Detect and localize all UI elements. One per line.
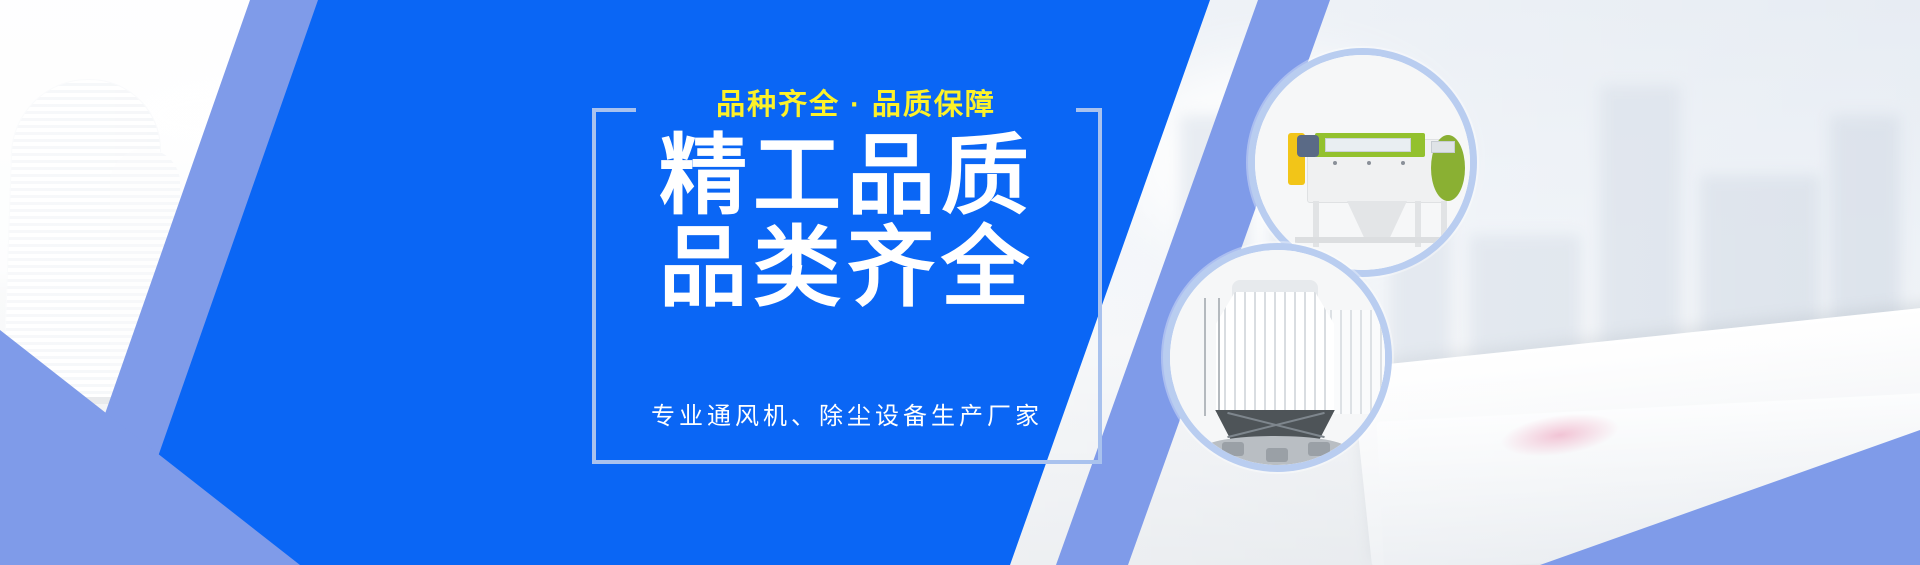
machine-motor <box>1297 135 1319 157</box>
cooling-tower-foot <box>1308 442 1330 456</box>
cooling-tower-shell <box>1216 292 1334 414</box>
headline-block: 精工品质 品类齐全 <box>592 130 1102 313</box>
machine-hopper <box>1347 201 1407 237</box>
product-photo-cooling-tower <box>1170 250 1385 465</box>
machine-bolt <box>1367 161 1371 165</box>
machine-base-rail <box>1295 237 1455 243</box>
cooling-tower-foot <box>1222 442 1244 456</box>
kicker-text: 品种齐全 · 品质保障 <box>636 82 1076 122</box>
machine-window <box>1325 138 1411 152</box>
machine-control-panel <box>1431 141 1455 153</box>
subtitle-text: 专业通风机、除尘设备生产厂家 <box>592 396 1102 431</box>
machine-bolt <box>1401 161 1405 165</box>
promo-banner: 品种齐全 · 品质保障 精工品质 品类齐全 专业通风机、除尘设备生产厂家 <box>0 0 1920 565</box>
cooling-tower-photo-inner <box>1170 250 1385 465</box>
cooling-tower-ladder <box>1204 298 1220 416</box>
product-photo-machine <box>1255 55 1470 270</box>
machine-bolt <box>1333 161 1337 165</box>
machine-photo-inner <box>1255 55 1470 270</box>
headline-line-2: 品类齐全 <box>592 222 1102 314</box>
cooling-tower-bracing <box>1226 410 1326 438</box>
cooling-tower-foot <box>1266 448 1288 462</box>
headline-line-1: 精工品质 <box>592 130 1102 222</box>
